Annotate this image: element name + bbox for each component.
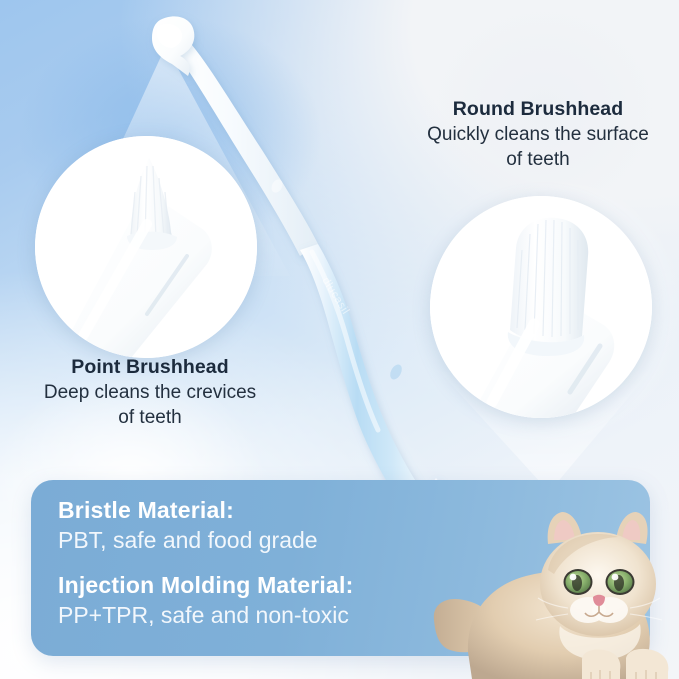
cat-paw-right: [626, 649, 668, 679]
callout-body-point-line2: of teeth: [8, 406, 292, 431]
callout-title-round: Round Brushhead: [404, 97, 672, 121]
callout-body-round-line1: Quickly cleans the surface: [404, 123, 672, 148]
cat-illustration: [430, 500, 679, 679]
injection-material-label: Injection Molding Material:: [58, 570, 353, 600]
callout-point-brushhead: Point Brushhead Deep cleans the crevices…: [8, 355, 292, 430]
bristle-material-label: Bristle Material:: [58, 495, 353, 525]
material-info-list: Bristle Material: PBT, safe and food gra…: [58, 495, 353, 631]
callout-round-brushhead: Round Brushhead Quickly cleans the surfa…: [404, 97, 672, 172]
bristle-material-value: PBT, safe and food grade: [58, 525, 353, 556]
cat-photo: [430, 500, 679, 679]
point-brushhead-zoom-image: [35, 136, 257, 358]
callout-body-point-line1: Deep cleans the crevices: [8, 381, 292, 406]
round-brushhead-zoom-image: [430, 196, 652, 418]
product-infographic: dlucasil: [0, 0, 679, 679]
inset-round-brushhead: [430, 196, 652, 418]
inset-point-brushhead: [35, 136, 257, 358]
callout-title-point: Point Brushhead: [8, 355, 292, 379]
injection-material-value: PP+TPR, safe and non-toxic: [58, 600, 353, 631]
callout-body-round-line2: of teeth: [404, 148, 672, 173]
